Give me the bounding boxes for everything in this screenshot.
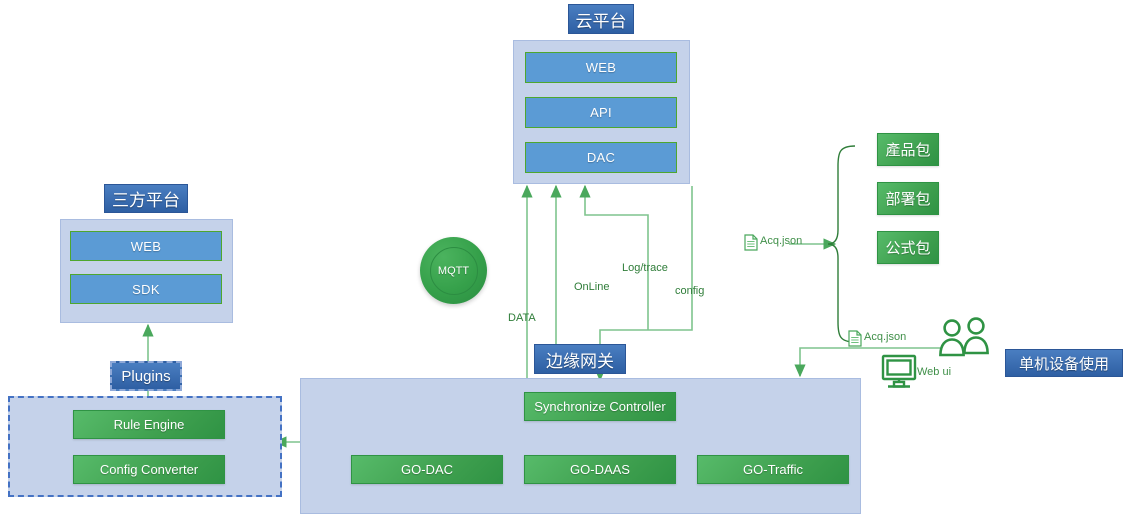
plugins-header: Plugins bbox=[110, 361, 182, 391]
standalone-file-icon-group: Acq.json bbox=[848, 330, 910, 348]
cloud-platform-item-api-label: API bbox=[590, 105, 612, 120]
third-party-item-web[interactable]: WEB bbox=[70, 231, 222, 261]
cloud-platform-item-dac-label: DAC bbox=[587, 150, 615, 165]
service-go-dac[interactable]: GO-DAC bbox=[351, 455, 503, 484]
package-item-deploy[interactable]: 部署包 bbox=[877, 182, 939, 215]
web-ui-label: Web ui bbox=[917, 366, 951, 378]
connector-logtrace bbox=[585, 186, 648, 330]
plugins-item-config-converter-label: Config Converter bbox=[100, 462, 198, 477]
third-party-item-web-label: WEB bbox=[131, 239, 162, 254]
service-go-traffic[interactable]: GO-Traffic bbox=[697, 455, 849, 484]
mqtt-inner-ring: MQTT bbox=[430, 247, 478, 295]
monitor-icon bbox=[880, 353, 920, 391]
file-icon bbox=[744, 234, 758, 251]
cloud-platform-item-web-label: WEB bbox=[586, 60, 617, 75]
plugins-item-config-converter[interactable]: Config Converter bbox=[73, 455, 225, 484]
third-party-item-sdk-label: SDK bbox=[132, 282, 160, 297]
cloud-platform-header: 云平台 bbox=[568, 4, 634, 34]
cloud-platform-item-api[interactable]: API bbox=[525, 97, 677, 128]
third-party-platform-header: 三方平台 bbox=[104, 184, 188, 213]
packages-file-label: Acq.json bbox=[760, 235, 802, 247]
connector-label-online: OnLine bbox=[574, 281, 609, 293]
synchronize-controller[interactable]: Synchronize Controller bbox=[524, 392, 676, 421]
package-item-formula[interactable]: 公式包 bbox=[877, 231, 939, 264]
cloud-platform-item-web[interactable]: WEB bbox=[525, 52, 677, 83]
connector-label-data: DATA bbox=[508, 312, 536, 324]
file-icon bbox=[848, 330, 862, 347]
connector-label-config: config bbox=[675, 285, 704, 297]
third-party-item-sdk[interactable]: SDK bbox=[70, 274, 222, 304]
plugins-header-label: Plugins bbox=[121, 368, 170, 385]
service-go-dac-label: GO-DAC bbox=[401, 462, 453, 477]
cloud-platform-item-dac[interactable]: DAC bbox=[525, 142, 677, 173]
users-icon bbox=[936, 318, 998, 360]
mqtt-label: MQTT bbox=[438, 265, 469, 277]
mqtt-node[interactable]: MQTT bbox=[420, 237, 487, 304]
service-go-daas[interactable]: GO-DAAS bbox=[524, 455, 676, 484]
package-item-deploy-label: 部署包 bbox=[885, 188, 930, 209]
service-go-traffic-label: GO-Traffic bbox=[743, 462, 803, 477]
standalone-file-label: Acq.json bbox=[864, 331, 906, 343]
diagram-canvas: 云平台 WEB API DAC 三方平台 WEB SDK Plugins Rul… bbox=[0, 0, 1130, 519]
packages-brace bbox=[828, 146, 855, 342]
package-item-formula-label: 公式包 bbox=[885, 237, 930, 258]
plugins-item-rule-engine-label: Rule Engine bbox=[114, 417, 185, 432]
edge-gateway-header-label: 边缘网关 bbox=[546, 347, 614, 372]
package-item-product[interactable]: 產品包 bbox=[877, 133, 939, 166]
standalone-usage-header: 单机设备使用 bbox=[1005, 349, 1123, 377]
service-go-daas-label: GO-DAAS bbox=[570, 462, 630, 477]
cloud-platform-header-label: 云平台 bbox=[576, 7, 627, 32]
packages-file-icon-group: Acq.json bbox=[744, 234, 806, 252]
package-item-product-label: 產品包 bbox=[885, 139, 930, 160]
edge-gateway-header: 边缘网关 bbox=[534, 344, 626, 374]
standalone-usage-header-label: 单机设备使用 bbox=[1019, 353, 1109, 374]
connector-acqjson-standalone bbox=[800, 348, 855, 376]
plugins-item-rule-engine[interactable]: Rule Engine bbox=[73, 410, 225, 439]
synchronize-controller-label: Synchronize Controller bbox=[534, 399, 666, 414]
connector-label-logtrace: Log/trace bbox=[622, 262, 668, 274]
third-party-platform-header-label: 三方平台 bbox=[112, 186, 180, 211]
